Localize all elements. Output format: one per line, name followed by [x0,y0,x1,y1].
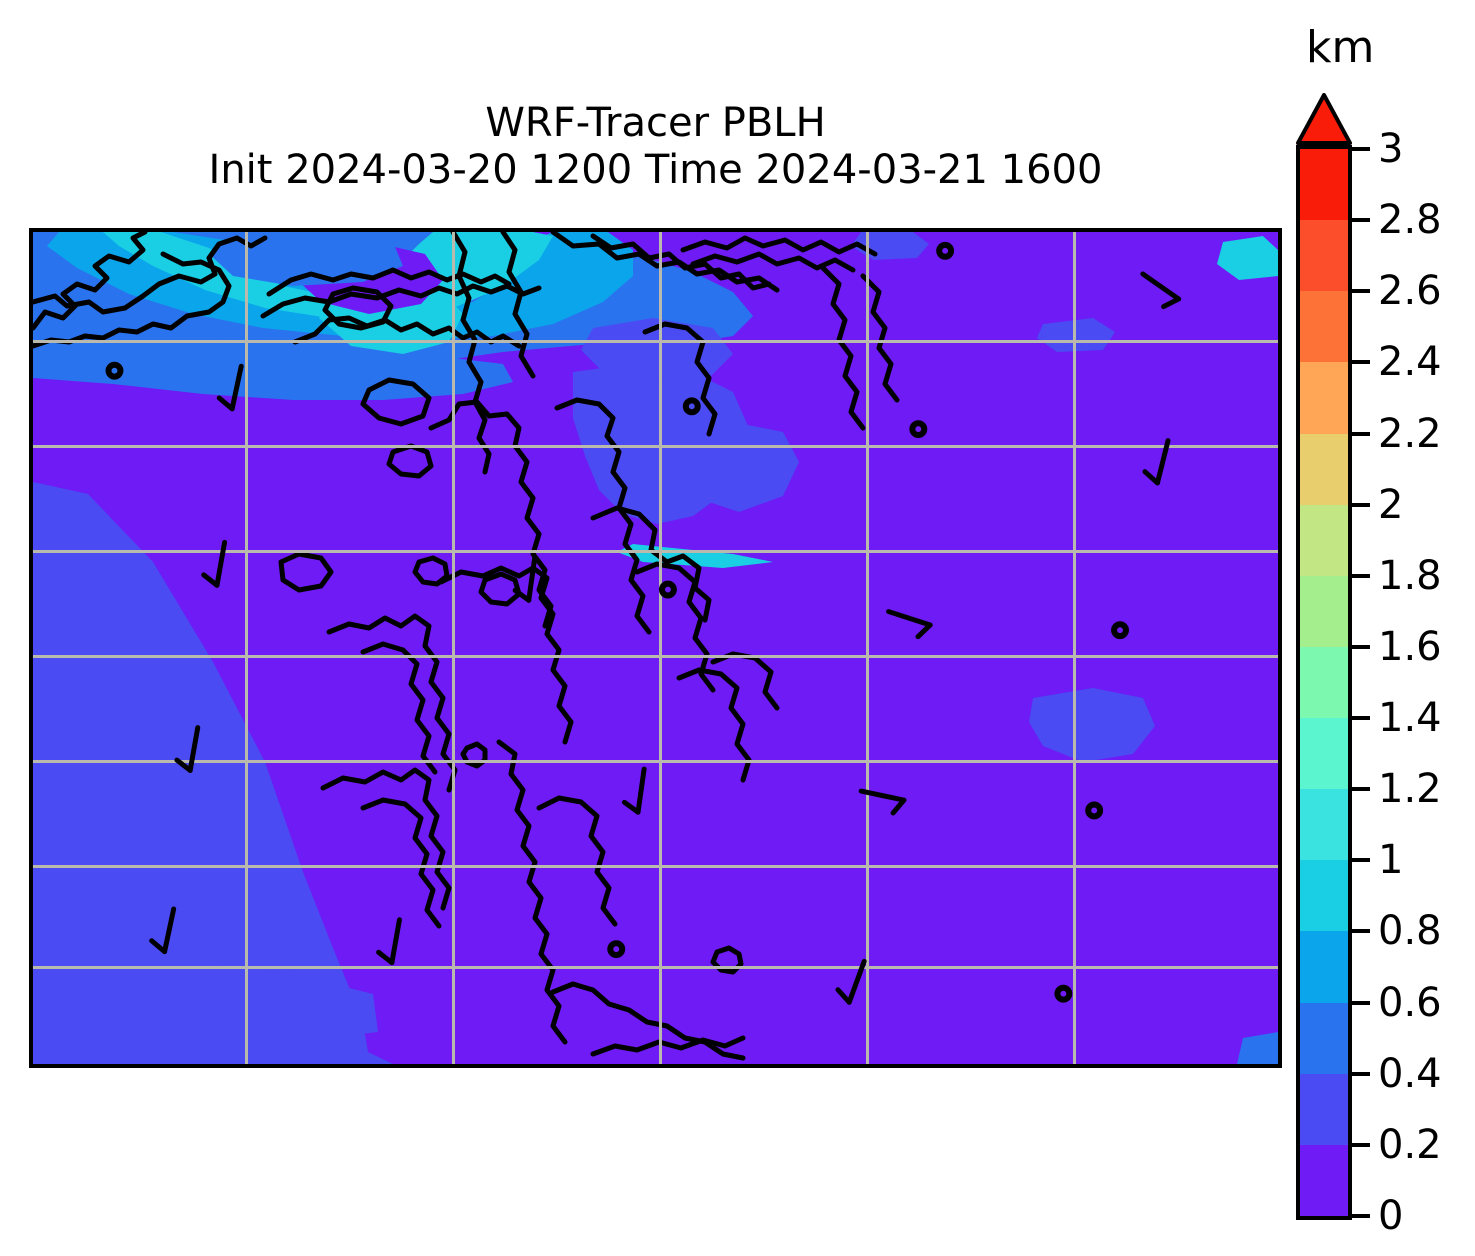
colorbar-tick-mark-9 [1352,787,1370,791]
barb-shaft [889,612,931,625]
colorbar-segment-0 [1300,1145,1348,1216]
barb-shaft [529,557,535,600]
colorbar-tick-mark-3 [1352,360,1370,364]
barb-shaft [232,366,241,409]
colorbar-segment-3 [1300,931,1348,1002]
title-line-secondary: Init 2024-03-20 1200 Time 2024-03-21 160… [29,147,1282,194]
barb-shaft [849,961,864,1002]
wind-barb-5 [884,612,930,640]
calm-wind-marker-5 [1114,624,1126,636]
wind-barb-8 [858,791,904,815]
colorbar-tick-label-9: 1.2 [1378,766,1442,812]
colorbar [1296,93,1352,1220]
colorbar-gradient [1296,145,1352,1220]
wind-barb-6 [175,725,197,770]
colorbar-tick-label-5: 2 [1378,482,1403,528]
calm-wind-marker-6 [1088,804,1100,816]
colorbar-segment-14 [1300,149,1348,220]
wind-barb-9 [150,906,174,952]
barb-shaft [638,769,644,812]
colorbar-tick-label-12: 0.6 [1378,980,1442,1026]
colorbar-tick-label-7: 1.6 [1378,624,1442,670]
colorbar-segment-4 [1300,860,1348,931]
colorbar-tick-mark-6 [1352,574,1370,578]
colorbar-segment-6 [1300,718,1348,789]
colorbar-tick-mark-8 [1352,716,1370,720]
barb-shaft [217,542,225,585]
colorbar-tick-label-0: 3 [1378,126,1403,172]
colorbar-tick-label-10: 1 [1378,837,1403,883]
wind-barb-2 [1143,437,1168,483]
calm-wind-marker-0 [939,245,951,257]
colorbar-tick-mark-13 [1352,1072,1370,1076]
colorbar-tick-mark-15 [1352,1214,1370,1218]
wind-barb-7 [623,767,644,812]
colorbar-tick-mark-11 [1352,929,1370,933]
colorbar-tick-mark-10 [1352,858,1370,862]
barb-shaft [165,909,174,952]
colorbar-segment-13 [1300,220,1348,291]
wind-barb-1 [218,363,242,409]
colorbar-segment-8 [1300,576,1348,647]
colorbar-tick-label-6: 1.8 [1378,553,1442,599]
calm-wind-marker-7 [610,943,622,955]
barb-shaft [1157,441,1168,483]
wind-barb-0 [1134,274,1178,311]
calm-wind-marker-8 [1057,988,1069,1000]
barb-shaft [190,728,198,771]
calm-wind-marker-3 [912,423,924,435]
colorbar-segment-12 [1300,291,1348,362]
colorbar-tick-label-4: 2.2 [1378,411,1442,457]
colorbar-segment-5 [1300,789,1348,860]
wind-barb-3 [202,540,224,585]
colorbar-segment-9 [1300,505,1348,576]
colorbar-tick-mark-2 [1352,289,1370,293]
colorbar-segment-7 [1300,647,1348,718]
calm-wind-marker-4 [662,584,674,596]
title-line-primary: WRF-Tracer PBLH [29,100,1282,147]
colorbar-tick-mark-12 [1352,1001,1370,1005]
calm-wind-marker-1 [109,365,121,377]
wind-barb-4 [514,555,535,600]
colorbar-tick-mark-4 [1352,432,1370,436]
calm-wind-marker-2 [686,400,698,412]
barb-shaft [1143,274,1179,299]
colorbar-tick-label-11: 0.8 [1378,908,1442,954]
colorbar-unit-label: km [1306,22,1374,73]
colorbar-tick-mark-7 [1352,645,1370,649]
wind-barb-layer [33,232,1278,1064]
colorbar-ticks: 32.82.62.42.221.81.61.41.210.80.60.40.20 [1352,93,1472,1220]
colorbar-arrow-shape [1298,95,1350,143]
barb-shaft [392,920,400,963]
page-title: WRF-Tracer PBLH Init 2024-03-20 1200 Tim… [29,100,1282,194]
pblh-contour-map [29,228,1282,1068]
colorbar-extend-arrow [1296,93,1352,145]
colorbar-tick-label-2: 2.6 [1378,268,1442,314]
colorbar-segment-1 [1300,1074,1348,1145]
colorbar-tick-label-15: 0 [1378,1193,1403,1239]
colorbar-tick-label-14: 0.2 [1378,1122,1442,1168]
colorbar-tick-label-8: 1.4 [1378,695,1442,741]
barb-shaft [861,791,904,800]
colorbar-tick-label-13: 0.4 [1378,1051,1442,1097]
colorbar-segment-11 [1300,362,1348,433]
colorbar-tick-label-1: 2.8 [1378,197,1442,243]
wind-barb-10 [377,917,399,962]
colorbar-segment-2 [1300,1003,1348,1074]
colorbar-tick-label-3: 2.4 [1378,339,1442,385]
colorbar-tick-mark-0 [1352,147,1370,151]
colorbar-tick-mark-5 [1352,503,1370,507]
colorbar-segment-10 [1300,434,1348,505]
colorbar-tick-mark-14 [1352,1143,1370,1147]
colorbar-tick-mark-1 [1352,218,1370,222]
wind-barb-11 [835,956,864,1002]
